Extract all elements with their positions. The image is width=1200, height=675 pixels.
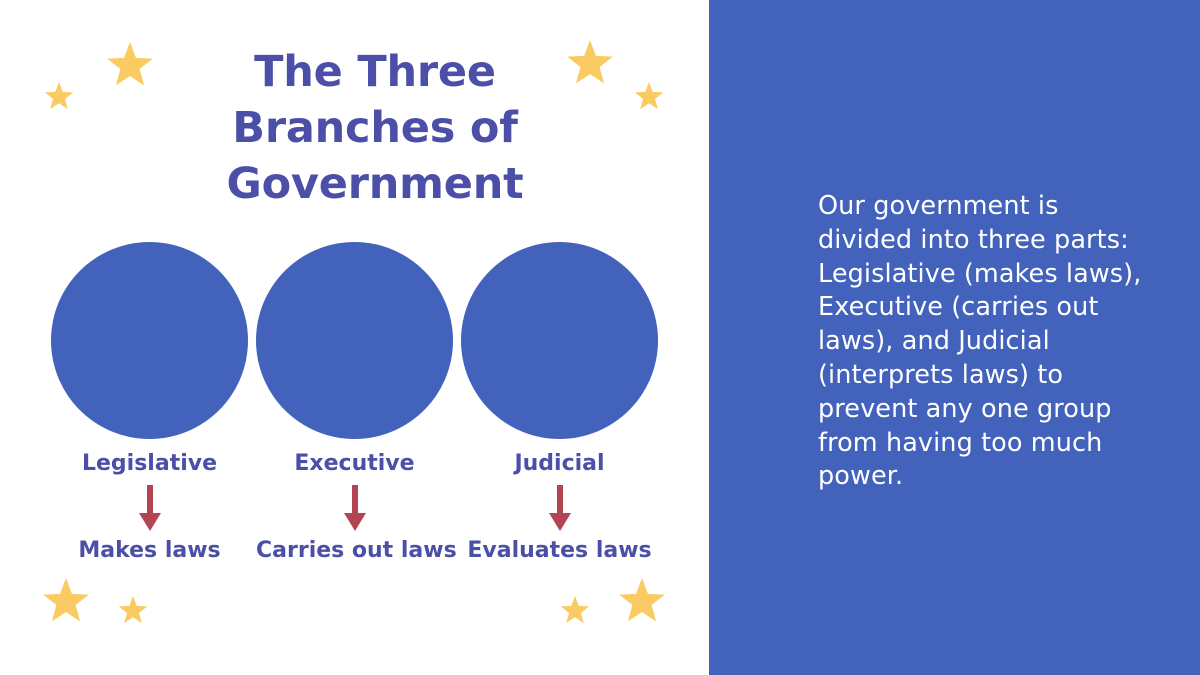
star-bottom-right-small	[560, 596, 590, 626]
star-top-left-large	[106, 42, 154, 90]
down-arrow-icon	[549, 485, 571, 531]
branch-power-label: Carries out laws	[256, 537, 453, 565]
slide-canvas: The Three Branches of Government Legisla…	[0, 0, 1200, 675]
star-top-right-large	[566, 40, 614, 88]
star-top-right-small	[634, 82, 664, 112]
star-top-left-small	[44, 82, 74, 112]
branch-column-legislative: Legislative Makes laws	[51, 450, 248, 565]
side-panel: Our government is divided into three par…	[709, 0, 1200, 675]
side-panel-body-text: Our government is divided into three par…	[818, 190, 1148, 494]
branch-circle-executive	[256, 242, 453, 439]
branch-name-label: Judicial	[461, 450, 658, 478]
branch-power-label: Evaluates laws	[461, 537, 658, 565]
page-title: The Three Branches of Government	[210, 44, 540, 212]
down-arrow-icon	[139, 485, 161, 531]
branch-circle-legislative	[51, 242, 248, 439]
branch-column-judicial: Judicial Evaluates laws	[461, 450, 658, 565]
star-bottom-left-large	[42, 578, 90, 626]
down-arrow-icon	[344, 485, 366, 531]
branch-circle-judicial	[461, 242, 658, 439]
star-bottom-right-large	[618, 578, 666, 626]
branch-name-label: Executive	[256, 450, 453, 478]
star-bottom-left-small	[118, 596, 148, 626]
branch-column-executive: Executive Carries out laws	[256, 450, 453, 565]
branch-name-label: Legislative	[51, 450, 248, 478]
branch-power-label: Makes laws	[51, 537, 248, 565]
